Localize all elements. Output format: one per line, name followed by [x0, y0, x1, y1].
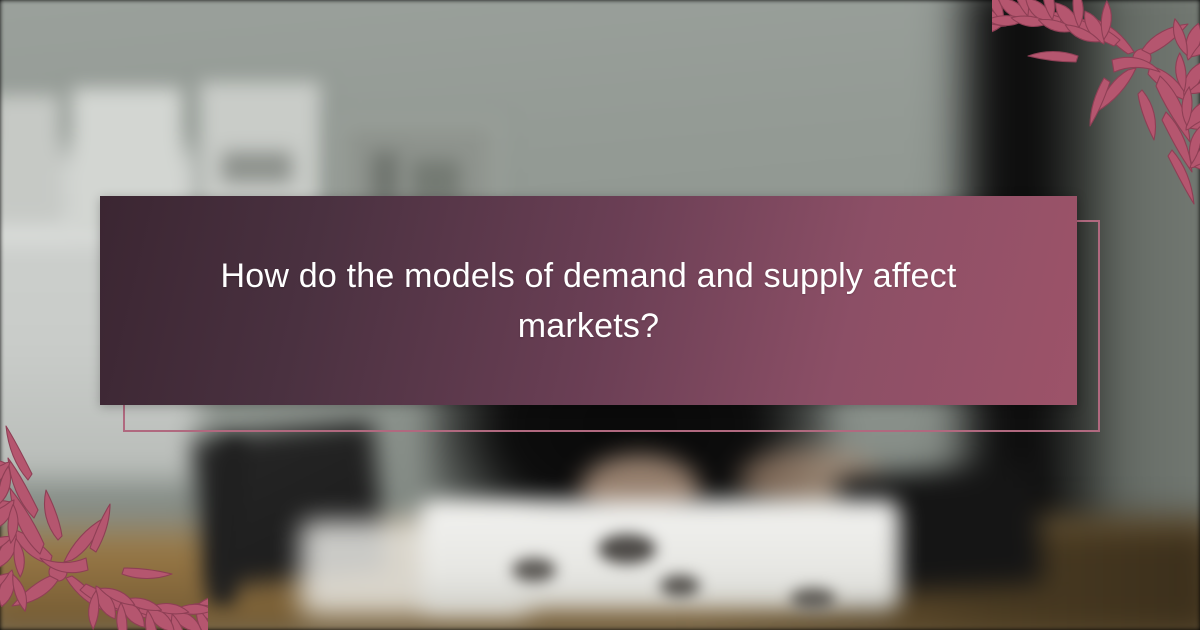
- paper-print-blob: [790, 588, 836, 610]
- page-title: How do the models of demand and supply a…: [119, 251, 1059, 351]
- paper-print-blob: [598, 534, 656, 564]
- picture-frame-art: [222, 152, 292, 182]
- picture-frame: [0, 95, 60, 220]
- paper-print-blob: [512, 558, 556, 582]
- title-banner: How do the models of demand and supply a…: [100, 196, 1077, 405]
- social-card: How do the models of demand and supply a…: [0, 0, 1200, 630]
- paper-print-blob: [660, 575, 700, 597]
